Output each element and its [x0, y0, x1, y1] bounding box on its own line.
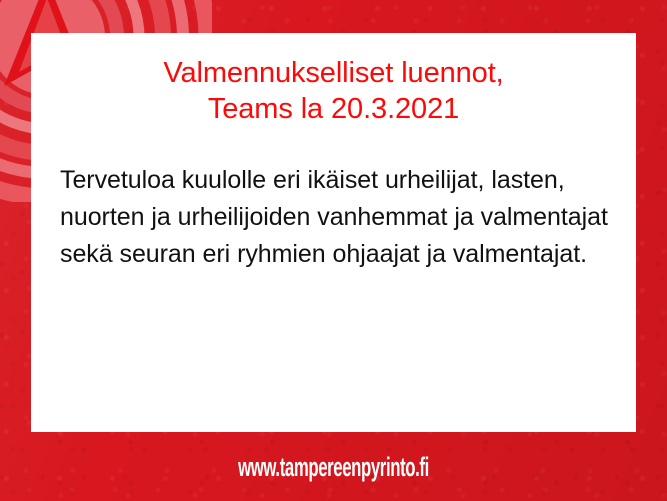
- content-card: Valmennukselliset luennot, Teams la 20.3…: [31, 33, 636, 432]
- body-paragraph: Tervetuloa kuulolle eri ikäiset urheilij…: [31, 127, 636, 273]
- page-title: Valmennukselliset luennot, Teams la 20.3…: [31, 33, 636, 127]
- website-url-footer: www.tampereenpyrinto.fi: [127, 452, 541, 483]
- slide-canvas: Valmennukselliset luennot, Teams la 20.3…: [0, 0, 667, 501]
